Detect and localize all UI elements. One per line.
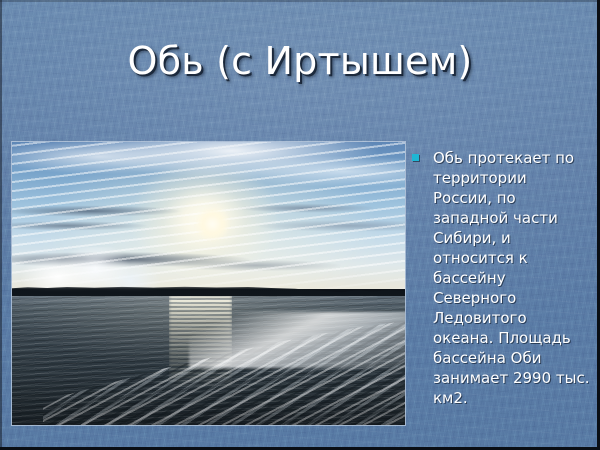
list-item: Обь протекает по территории России, по з…: [412, 148, 590, 408]
slide-title: Обь (с Иртышем): [0, 41, 600, 82]
slide-photo[interactable]: [12, 142, 405, 425]
presentation-slide: Обь (с Иртышем) Обь протекает по террито…: [0, 0, 600, 450]
square-bullet-icon: [412, 154, 419, 161]
photo-cumulus-cloud: [20, 247, 177, 295]
bullet-paragraph: Обь протекает по территории России, по з…: [433, 148, 590, 408]
photo-water-vignette: [12, 296, 405, 425]
slide-content-textbox: Обь протекает по территории России, по з…: [412, 148, 590, 408]
photo-sun: [195, 207, 230, 241]
